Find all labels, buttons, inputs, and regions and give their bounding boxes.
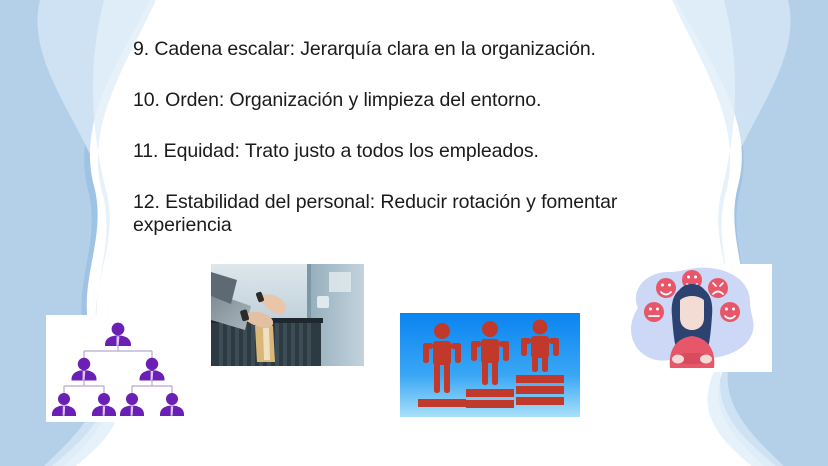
bullet-11: 11. Equidad: Trato justo a todos los emp…	[133, 140, 713, 163]
filing-cabinet-photo	[211, 264, 364, 366]
employee-emotions-illustration	[612, 264, 772, 372]
bullet-9: 9. Cadena escalar: Jerarquía clara en la…	[133, 38, 713, 61]
slide-content: 9. Cadena escalar: Jerarquía clara en la…	[0, 0, 828, 466]
slide: 9. Cadena escalar: Jerarquía clara en la…	[0, 0, 828, 466]
bullet-12: 12. Estabilidad del personal: Reducir ro…	[133, 191, 678, 237]
bullet-list: 9. Cadena escalar: Jerarquía clara en la…	[133, 38, 713, 237]
equity-illustration	[400, 313, 580, 417]
organizational-chart-illustration	[46, 315, 190, 422]
bullet-10: 10. Orden: Organización y limpieza del e…	[133, 89, 713, 112]
